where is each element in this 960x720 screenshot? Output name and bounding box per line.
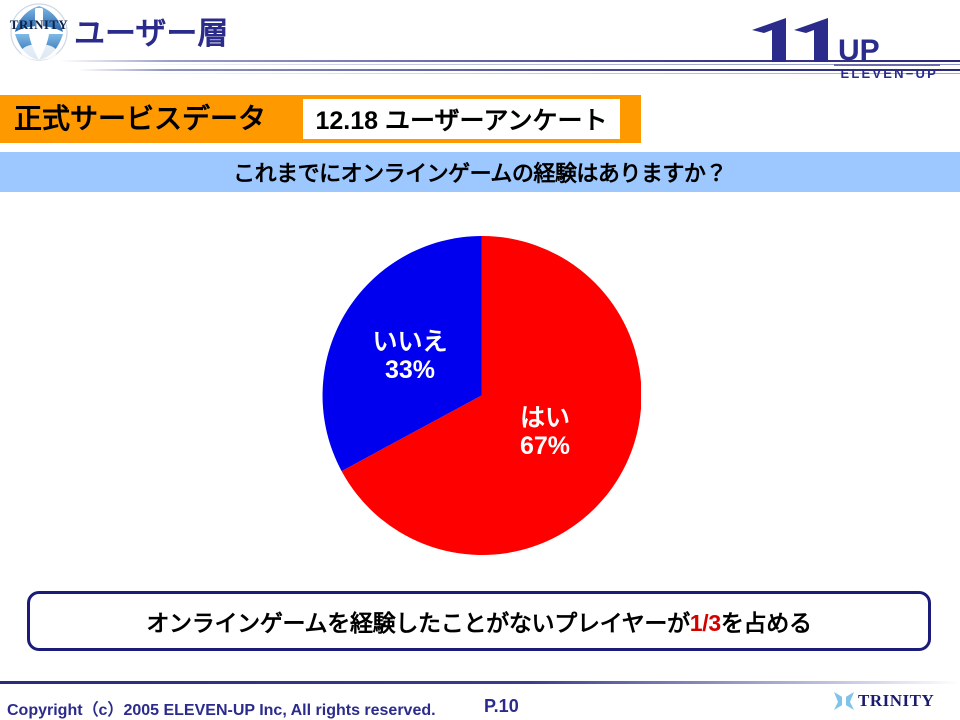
conclusion-highlight: 1/3 bbox=[690, 610, 721, 636]
eleven-up-logo-icon: UP ELEVEN−UP bbox=[742, 14, 942, 80]
chart-area: いいえ 33% はい 67% bbox=[0, 200, 960, 575]
page-title: ユーザー層 bbox=[74, 18, 228, 49]
question-text: これまでにオンラインゲームの経験はありますか？ bbox=[233, 156, 727, 188]
svg-text:TRINITY: TRINITY bbox=[10, 17, 69, 32]
conclusion-text-before: オンラインゲームを経験したことがないプレイヤーが bbox=[146, 610, 689, 636]
footer-trinity-logo-icon: TRINITY bbox=[830, 688, 948, 714]
eleven-up-logo-wordmark: ELEVEN−UP bbox=[841, 66, 938, 80]
slide: TRINITY ユーザー層 UP ELEVEN−UP 正式サービスデータ 12.… bbox=[0, 0, 960, 720]
pie-chart: いいえ 33% はい 67% bbox=[322, 236, 641, 555]
question-banner: これまでにオンラインゲームの経験はありますか？ bbox=[0, 152, 960, 192]
footer-trinity-logo-text: TRINITY bbox=[858, 691, 934, 711]
section-banner-label: 正式サービスデータ bbox=[14, 102, 266, 136]
section-banner: 正式サービスデータ 12.18 ユーザーアンケート bbox=[0, 95, 641, 143]
date-chip: 12.18 ユーザーアンケート bbox=[303, 99, 620, 139]
date-chip-label: 12.18 ユーザーアンケート bbox=[315, 101, 607, 137]
page-number: P.10 bbox=[484, 696, 519, 717]
footer-copyright: Copyright（c）2005 ELEVEN-UP Inc, All righ… bbox=[7, 696, 436, 720]
conclusion-text-after: を占める bbox=[721, 610, 812, 636]
conclusion-text: オンラインゲームを経験したことがないプレイヤーが1/3を占める bbox=[146, 604, 811, 638]
footer-divider bbox=[0, 681, 960, 684]
trinity-logo-icon: TRINITY bbox=[4, 2, 74, 64]
eleven-up-logo-up: UP bbox=[838, 34, 880, 67]
conclusion-callout: オンラインゲームを経験したことがないプレイヤーが1/3を占める bbox=[27, 591, 931, 651]
